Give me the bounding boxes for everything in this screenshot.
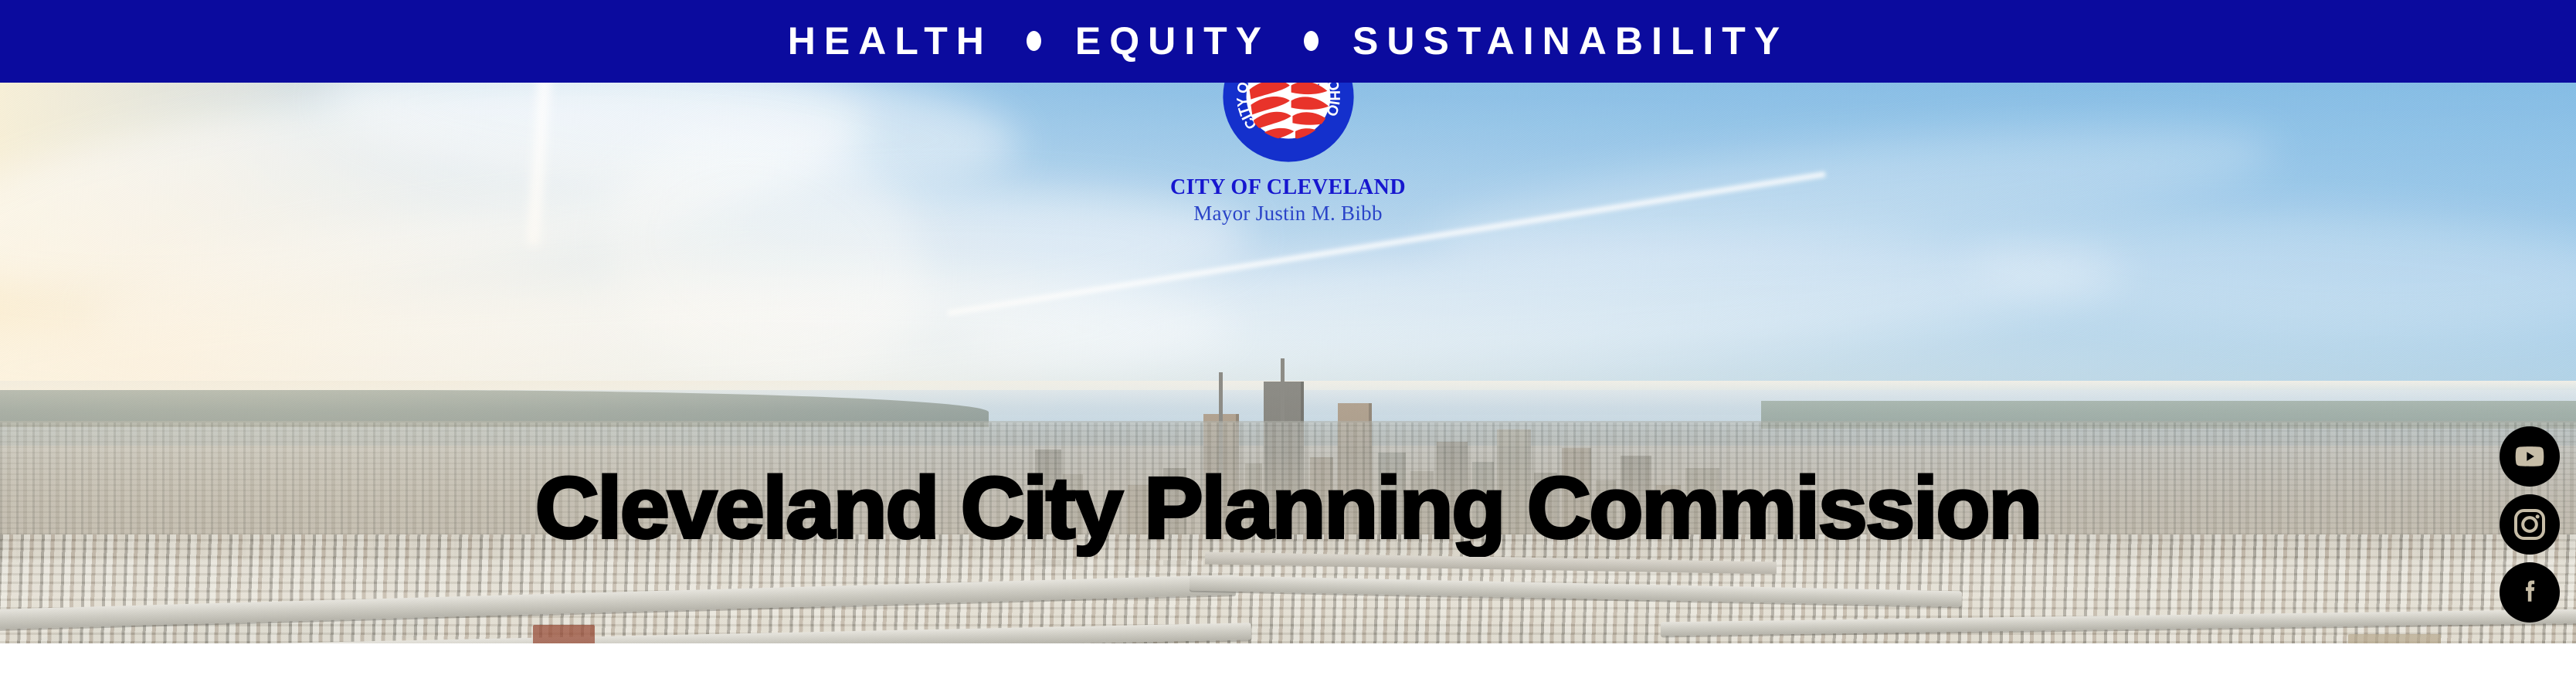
page-title-wrap: Cleveland City Planning Commission [0,465,2576,551]
bottom-white-strip [0,643,2576,682]
instagram-icon [2512,507,2547,542]
tagline-word-equity: EQUITY [1075,22,1270,60]
building-accent [533,625,595,643]
tagline-banner: HEALTH EQUITY SUSTAINABILITY [0,0,2576,83]
youtube-icon [2513,439,2547,473]
tagline-word-health: HEALTH [788,22,993,60]
tagline-separator-dot-2 [1304,31,1319,51]
tagline-word-sustainability: SUSTAINABILITY [1352,22,1788,60]
page-title: Cleveland City Planning Commission [535,465,2041,551]
social-links [2500,426,2560,623]
social-link-youtube[interactable] [2500,426,2560,487]
tagline-inner: HEALTH EQUITY SUSTAINABILITY [788,22,1788,60]
tagline-separator-dot-1 [1027,31,1041,51]
social-link-facebook[interactable] [2500,562,2560,623]
building-accent [2348,634,2441,643]
page-root: HEALTH EQUITY SUSTAINABILITY [0,0,2576,682]
facebook-icon [2513,575,2547,609]
social-link-instagram[interactable] [2500,494,2560,555]
